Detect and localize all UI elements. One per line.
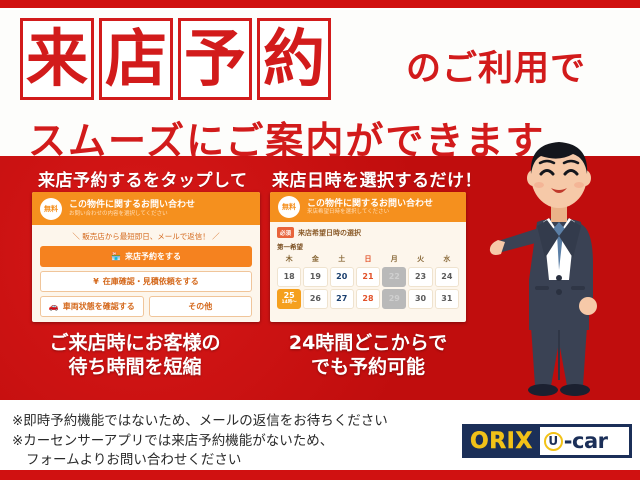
inquiry-reply-note: ＼ 販売店から最短即日、メールで返信！ ／: [40, 231, 252, 242]
yen-icon: ¥: [93, 278, 99, 286]
calendar-day-time: 14時～: [282, 301, 297, 306]
calendar-week-row: 18192021222324: [277, 267, 459, 287]
free-badge-calendar: 無料: [278, 196, 300, 218]
car-wordmark: -car: [564, 429, 608, 453]
reserve-visit-button[interactable]: 🏪 来店予約をする: [40, 246, 252, 267]
left-caption-line2: 待ち時間を短縮: [20, 356, 250, 380]
inquiry-form-mockup: 無料 この物件に関するお問い合わせ お問い合わせの内容を選択してください ＼ 販…: [32, 192, 260, 322]
calendar-header-subtitle: 来店希望日時を選択してください: [307, 209, 433, 215]
weekday-mon: 月: [382, 253, 406, 265]
first-choice-label: 第一希望: [277, 241, 459, 251]
calendar-day-number: 21: [362, 273, 373, 281]
calendar-day-number: 27: [336, 295, 347, 303]
calendar-day-number: 19: [310, 273, 321, 281]
kanji-box-2: 店: [99, 18, 173, 100]
calendar-day-number: 20: [336, 273, 347, 281]
calendar-day-number: 22: [389, 273, 400, 281]
calendar-day-cell[interactable]: 20: [330, 267, 354, 287]
calendar-day-number: 24: [441, 273, 452, 281]
stock-quote-button[interactable]: ¥ 在庫確認・見積依頼をする: [40, 271, 252, 292]
calendar-day-cell[interactable]: 18: [277, 267, 301, 287]
calendar-weekday-row: 木 金 土 日 月 火 水: [277, 253, 459, 265]
car-icon: 🚗: [49, 303, 59, 311]
top-red-rule: [0, 0, 640, 8]
left-column-title: 来店予約するをタップして: [38, 166, 248, 191]
inquiry-header-subtitle: お問い合わせの内容を選択してください: [69, 211, 195, 217]
other-button[interactable]: その他: [149, 296, 253, 317]
calendar-day-cell[interactable]: 26: [303, 289, 327, 309]
kanji-box-1: 来: [20, 18, 94, 100]
calendar-header: 無料 この物件に関するお問い合わせ 来店希望日時を選択してください: [270, 192, 466, 222]
weekday-sat: 土: [330, 253, 354, 265]
weekday-tue: 火: [408, 253, 432, 265]
disclaimer-line-3: フォームよりお問い合わせください: [12, 451, 388, 471]
calendar-day-cell[interactable]: 24: [435, 267, 459, 287]
weekday-sun: 日: [356, 253, 380, 265]
inquiry-header-title: この物件に関するお問い合わせ: [69, 200, 195, 210]
calendar-day-cell[interactable]: 31: [435, 289, 459, 309]
orix-wordmark: ORIX: [463, 429, 540, 454]
free-badge: 無料: [40, 198, 62, 220]
calendar-day-cell[interactable]: 30: [408, 289, 432, 309]
kanji-box-3: 予: [178, 18, 252, 100]
right-column-title: 来店日時を選択するだけ！: [272, 166, 482, 191]
u-circle-icon: U: [544, 432, 563, 451]
calendar-mockup: 無料 この物件に関するお問い合わせ 来店希望日時を選択してください 必須 来店希…: [270, 192, 466, 322]
ucar-wordmark: U -car: [540, 427, 629, 455]
vehicle-condition-button[interactable]: 🚗 車両状態を確認する: [40, 296, 144, 317]
businessman-illustration: [489, 130, 629, 402]
calendar-day-cell[interactable]: 2514時～: [277, 289, 301, 309]
right-caption-line2: でも予約可能: [262, 356, 474, 380]
kanji-box-4: 約: [257, 18, 331, 100]
bottom-red-rule: [0, 470, 640, 480]
boxed-kanji-row: 来 店 予 約: [20, 18, 331, 100]
disclaimer-line-2: ※カーセンサーアプリでは来店予約機能がないため、: [12, 432, 388, 452]
left-caption-line1: ご来店時にお客様の: [20, 332, 250, 356]
required-tag: 必須: [277, 227, 294, 238]
headline-tail-text: のご利用で: [406, 40, 586, 91]
calendar-day-cell[interactable]: 28: [356, 289, 380, 309]
right-caption: 24時間どこからで でも予約可能: [262, 332, 474, 380]
weekday-wed: 水: [435, 253, 459, 265]
calendar-day-cell[interactable]: 21: [356, 267, 380, 287]
calendar-day-cell: 29: [382, 289, 406, 309]
calendar-day-number: 28: [362, 295, 373, 303]
calendar-day-number: 18: [284, 273, 295, 281]
calendar-day-cell[interactable]: 27: [330, 289, 354, 309]
calendar-day-number: 26: [310, 295, 321, 303]
calendar-day-cell[interactable]: 19: [303, 267, 327, 287]
weekday-fri: 金: [303, 253, 327, 265]
vehicle-condition-label: 車両状態を確認する: [63, 301, 135, 312]
other-label: その他: [188, 301, 212, 312]
calendar-week-row: 2514時～262728293031: [277, 289, 459, 309]
calendar-day-number: 30: [415, 295, 426, 303]
inquiry-form-header: 無料 この物件に関するお問い合わせ お問い合わせの内容を選択してください: [32, 192, 260, 225]
disclaimer-text: ※即時予約機能ではないため、メールの返信をお待ちください ※カーセンサーアプリで…: [12, 412, 388, 471]
calendar-day-number: 31: [441, 295, 452, 303]
weekday-thu: 木: [277, 253, 301, 265]
store-icon: 🏪: [111, 253, 121, 261]
disclaimer-line-1: ※即時予約機能ではないため、メールの返信をお待ちください: [12, 412, 388, 432]
stock-quote-label: 在庫確認・見積依頼をする: [103, 276, 199, 287]
calendar-header-title: この物件に関するお問い合わせ: [307, 199, 433, 209]
calendar-day-number: 29: [389, 295, 400, 303]
calendar-section-label: 来店希望日時の選択: [298, 228, 361, 238]
calendar-day-cell: 22: [382, 267, 406, 287]
right-caption-line1: 24時間どこからで: [262, 332, 474, 356]
orix-ucar-logo: ORIX U -car: [462, 424, 632, 458]
left-caption: ご来店時にお客様の 待ち時間を短縮: [20, 332, 250, 380]
calendar-day-number: 23: [415, 273, 426, 281]
calendar-day-cell[interactable]: 23: [408, 267, 432, 287]
reserve-visit-label: 来店予約をする: [125, 251, 181, 262]
